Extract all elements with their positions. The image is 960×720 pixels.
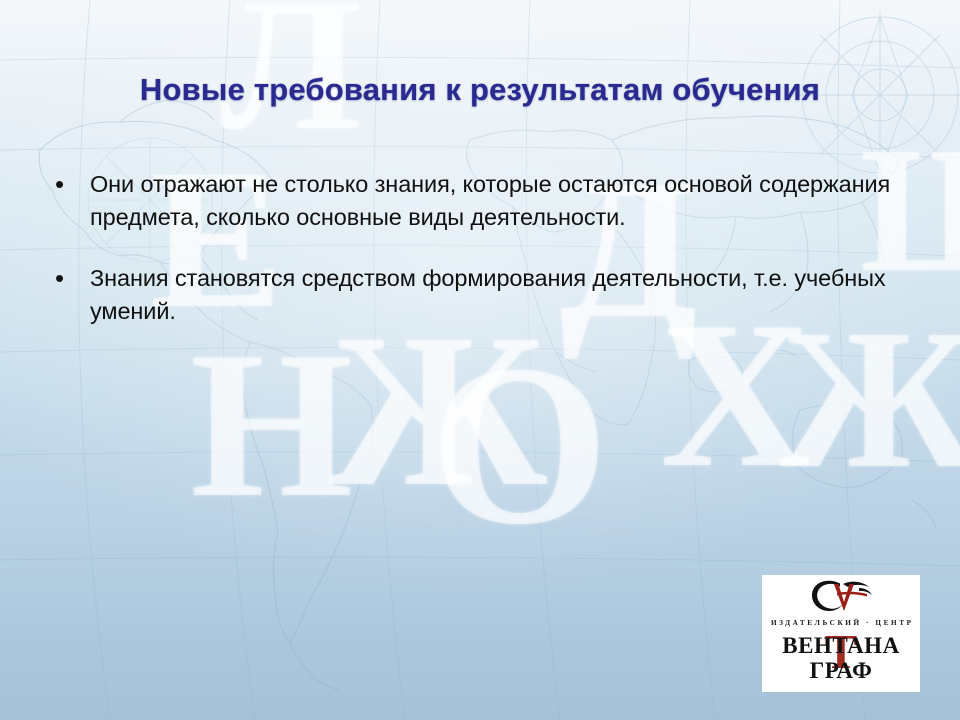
publisher-logo: ИЗДАТЕЛЬСКИЙ · ЦЕНТР Т ВЕНТАНА ГРАФ: [762, 575, 920, 692]
publisher-monogram-icon: [762, 577, 920, 619]
publisher-name-line-2: ГРАФ: [762, 659, 920, 682]
bg-letter-6: О: [430, 330, 609, 560]
bullet-text-1: Они отражают не столько знания, которые …: [90, 168, 910, 234]
bullet-text-2: Знания становятся средством формирования…: [90, 262, 910, 328]
bg-letter-3: Н: [190, 320, 353, 530]
bg-letter-8: Ж: [780, 300, 960, 500]
slide-body: • Они отражают не столько знания, которы…: [50, 168, 910, 328]
publisher-name: Т ВЕНТАНА ГРАФ: [762, 631, 920, 689]
bullet-marker-icon: •: [50, 262, 90, 295]
publisher-subtitle: ИЗДАТЕЛЬСКИЙ · ЦЕНТР: [762, 619, 920, 627]
page-title: Новые требования к результатам обучения: [60, 72, 900, 108]
publisher-name-line-1: ВЕНТАНА: [762, 634, 920, 657]
list-item: • Они отражают не столько знания, которы…: [50, 168, 910, 234]
bg-letter-4: Ж: [330, 300, 548, 520]
list-item: • Знания становятся средством формирован…: [50, 262, 910, 328]
bullet-marker-icon: •: [50, 168, 90, 201]
presentation-slide: Л Е Н Ж Д О Х Ж Ш Новые требования к рез…: [0, 0, 960, 720]
